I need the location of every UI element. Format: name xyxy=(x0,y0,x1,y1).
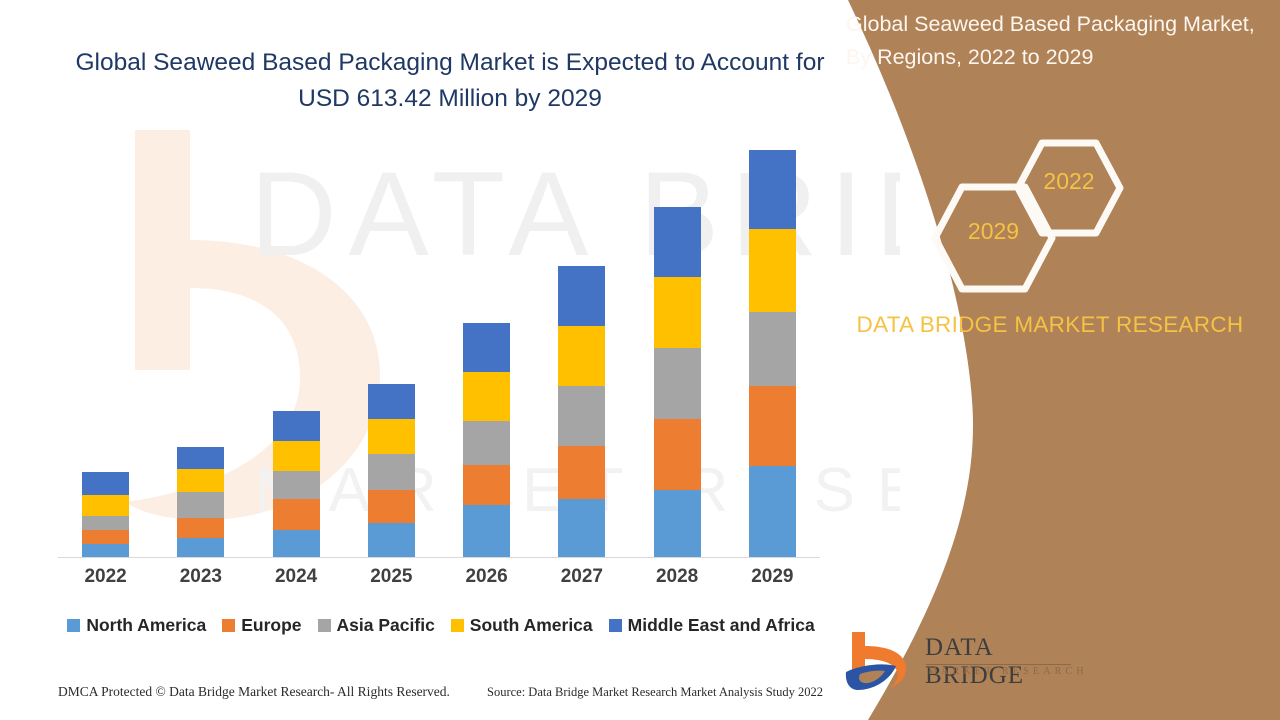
bar-group xyxy=(630,150,725,557)
bar-segment xyxy=(177,447,224,469)
bar-segment xyxy=(368,454,415,490)
legend-item[interactable]: Asia Pacific xyxy=(318,615,435,636)
bar-group xyxy=(249,150,344,557)
bar-segment xyxy=(654,348,701,419)
bar-group xyxy=(439,150,534,557)
logo-wordmark: DATA BRIDGE xyxy=(925,634,1090,690)
legend-label: Asia Pacific xyxy=(337,615,435,636)
bar-group xyxy=(534,150,629,557)
copyright-notice: DMCA Protected © Data Bridge Market Rese… xyxy=(58,684,450,700)
bar-segment xyxy=(463,505,510,558)
stacked-bar xyxy=(749,150,796,557)
bar-segment xyxy=(558,499,605,557)
bar-segment xyxy=(463,323,510,372)
side-panel: Global Seaweed Based Packaging Market, B… xyxy=(820,0,1280,720)
bar-segment xyxy=(749,150,796,229)
stacked-bar-chart xyxy=(58,150,820,558)
bar-segment xyxy=(749,386,796,466)
side-panel-title: Global Seaweed Based Packaging Market, B… xyxy=(846,8,1266,74)
x-axis-label: 2024 xyxy=(249,566,344,588)
x-axis-label: 2025 xyxy=(344,566,439,588)
bar-segment xyxy=(82,530,129,544)
bar-segment xyxy=(654,490,701,557)
x-axis-line xyxy=(58,557,820,558)
logo-subtitle: MARKET RESEARCH xyxy=(928,666,1088,677)
bar-segment xyxy=(177,538,224,557)
bar-segment xyxy=(654,277,701,348)
bar-segment xyxy=(463,372,510,421)
bar-segment xyxy=(558,266,605,326)
data-bridge-logo: DATA BRIDGE MARKET RESEARCH xyxy=(840,628,1090,700)
bar-segment xyxy=(654,207,701,276)
x-axis-label: 2022 xyxy=(58,566,153,588)
bar-segment xyxy=(177,469,224,492)
legend-item[interactable]: North America xyxy=(67,615,206,636)
bar-segment xyxy=(177,492,224,517)
stacked-bar xyxy=(273,411,320,557)
source-note: Source: Data Bridge Market Research Mark… xyxy=(487,685,823,700)
bar-group xyxy=(58,150,153,557)
bar-segment xyxy=(273,530,320,557)
bar-segment xyxy=(273,441,320,471)
legend-item[interactable]: Middle East and Africa xyxy=(609,615,815,636)
bar-segment xyxy=(558,446,605,499)
legend-swatch-icon xyxy=(451,619,464,632)
bar-segment xyxy=(368,523,415,557)
bar-segment xyxy=(273,499,320,530)
bar-segment xyxy=(749,312,796,386)
hexagon-2022: 2022 xyxy=(1013,138,1125,243)
hexagon-2022-label: 2022 xyxy=(1013,168,1125,195)
bar-segment xyxy=(82,516,129,530)
bar-segment xyxy=(368,419,415,454)
stacked-bar xyxy=(654,207,701,557)
bar-segment xyxy=(654,419,701,490)
stacked-bar xyxy=(463,323,510,557)
legend-swatch-icon xyxy=(67,619,80,632)
bar-group xyxy=(344,150,439,557)
bar-group xyxy=(153,150,248,557)
legend-swatch-icon xyxy=(609,619,622,632)
bar-segment xyxy=(368,384,415,419)
chart-panel: DATA BRIDGE MARKET RESEARCH Global Seawe… xyxy=(0,0,900,720)
legend-item[interactable]: Europe xyxy=(222,615,301,636)
bar-segment xyxy=(463,421,510,465)
x-axis-label: 2023 xyxy=(153,566,248,588)
bar-segment xyxy=(82,544,129,557)
x-axis-label: 2027 xyxy=(534,566,629,588)
stacked-bar xyxy=(82,472,129,557)
x-axis-labels: 20222023202420252026202720282029 xyxy=(58,566,820,588)
stacked-bar xyxy=(558,266,605,557)
legend-label: Europe xyxy=(241,615,301,636)
brand-name: DATA BRIDGE MARKET RESEARCH xyxy=(840,308,1260,341)
legend-label: Middle East and Africa xyxy=(628,615,815,636)
bar-segment xyxy=(82,495,129,516)
bar-group xyxy=(725,150,820,557)
x-axis-label: 2026 xyxy=(439,566,534,588)
page-title: Global Seaweed Based Packaging Market is… xyxy=(70,45,830,117)
bar-segment xyxy=(463,465,510,504)
bar-segment xyxy=(749,229,796,312)
data-bridge-mark-icon xyxy=(840,628,920,698)
logo-divider xyxy=(926,664,1071,665)
bar-segment xyxy=(273,471,320,499)
legend-label: South America xyxy=(470,615,593,636)
stacked-bar xyxy=(177,447,224,557)
chart-plot-area xyxy=(58,150,820,557)
bar-segment xyxy=(558,386,605,446)
legend-item[interactable]: South America xyxy=(451,615,593,636)
stacked-bar xyxy=(368,384,415,557)
bar-segment xyxy=(558,326,605,386)
legend-label: North America xyxy=(86,615,206,636)
bar-segment xyxy=(82,472,129,495)
bar-segment xyxy=(368,490,415,523)
x-axis-label: 2028 xyxy=(630,566,725,588)
bar-segment xyxy=(177,518,224,539)
bar-segment xyxy=(273,411,320,441)
bar-segment xyxy=(749,466,796,557)
legend-swatch-icon xyxy=(222,619,235,632)
x-axis-label: 2029 xyxy=(725,566,820,588)
legend-swatch-icon xyxy=(318,619,331,632)
chart-legend: North AmericaEuropeAsia PacificSouth Ame… xyxy=(58,615,824,636)
